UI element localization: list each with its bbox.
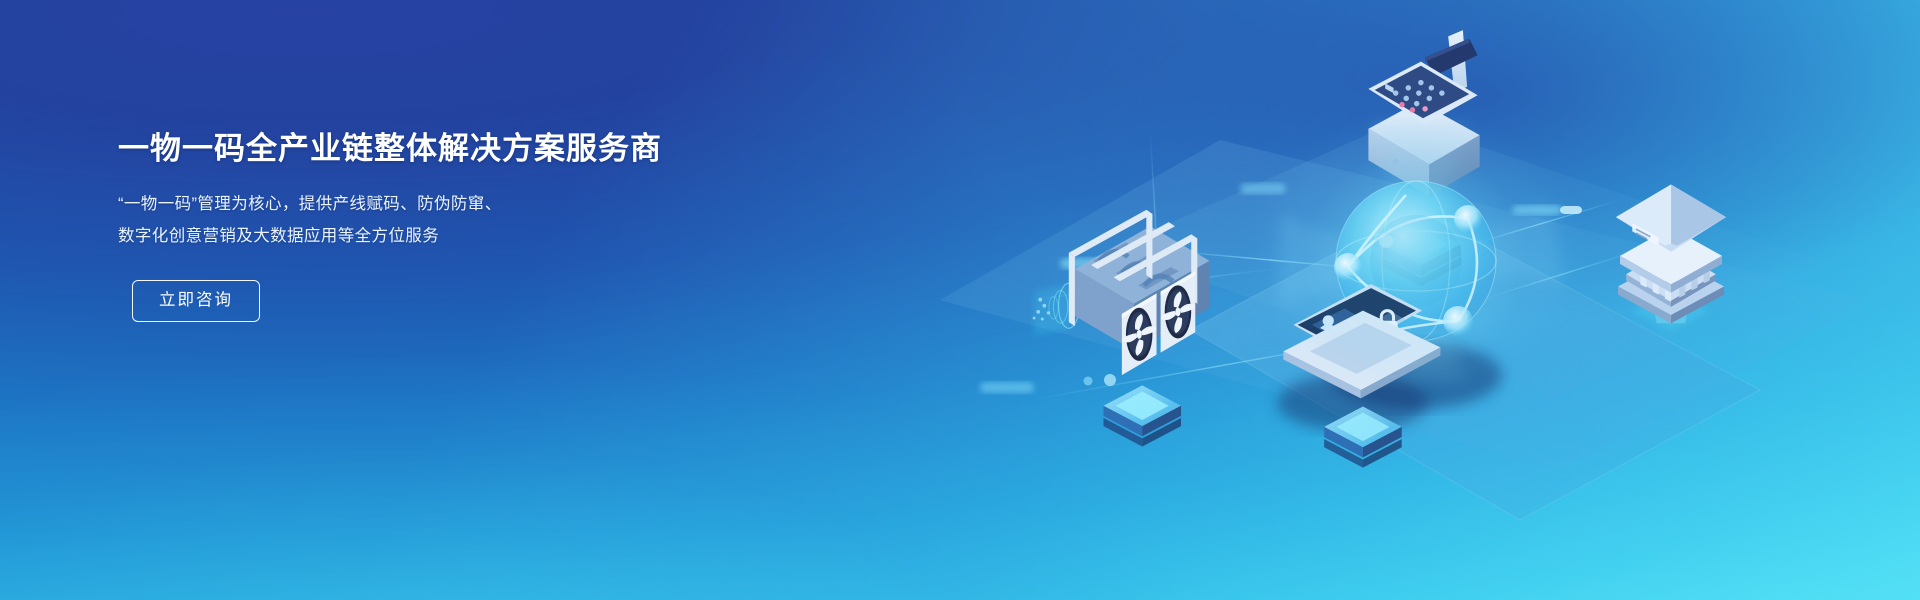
banner-subtitle: “一物一码”管理为核心，提供产线赋码、防伪防窜、 数字化创意营销及大数据应用等全…	[118, 188, 758, 252]
lock-icon	[1371, 311, 1406, 338]
connection-lines	[1030, 130, 1640, 400]
hero-banner: 一物一码全产业链整体解决方案服务商 “一物一码”管理为核心，提供产线赋码、防伪防…	[0, 0, 1920, 600]
sphere-rays	[1280, 121, 1564, 387]
globe-node-left	[1334, 253, 1362, 281]
laptop-pad	[1324, 406, 1402, 467]
globe-node-top-right	[1454, 205, 1482, 233]
scan-cone	[1033, 283, 1079, 336]
hero-illustration	[860, 0, 1920, 600]
bank-icon	[1616, 184, 1726, 331]
screen-user-card	[1312, 309, 1363, 344]
pos-terminal-icon	[1368, 30, 1479, 286]
cooling-fans	[1122, 271, 1195, 375]
cta-container: 立即咨询	[118, 280, 758, 322]
globe-node-bottom-right	[1443, 306, 1473, 336]
background-shade-upper-right	[672, 0, 1920, 420]
bank-columns	[1640, 250, 1709, 302]
subtitle-line-2: 数字化创意营销及大数据应用等全方位服务	[118, 220, 758, 252]
isometric-platform	[940, 120, 1870, 520]
subtitle-line-1: “一物一码”管理为核心，提供产线赋码、防伪防窜、	[118, 188, 758, 220]
network-globe-icon	[1280, 121, 1564, 409]
consult-now-button[interactable]: 立即咨询	[132, 280, 260, 322]
server-pad	[1103, 385, 1181, 446]
banner-copy: 一物一码全产业链整体解决方案服务商 “一物一码”管理为核心，提供产线赋码、防伪防…	[118, 130, 758, 322]
globe-mesh	[1348, 195, 1477, 335]
pos-pad	[1381, 223, 1461, 286]
page-title: 一物一码全产业链整体解决方案服务商	[118, 130, 758, 169]
server-rack-icon	[1033, 210, 1210, 447]
laptop-lock-icon	[1277, 284, 1440, 468]
data-flow-dots	[980, 183, 1582, 393]
